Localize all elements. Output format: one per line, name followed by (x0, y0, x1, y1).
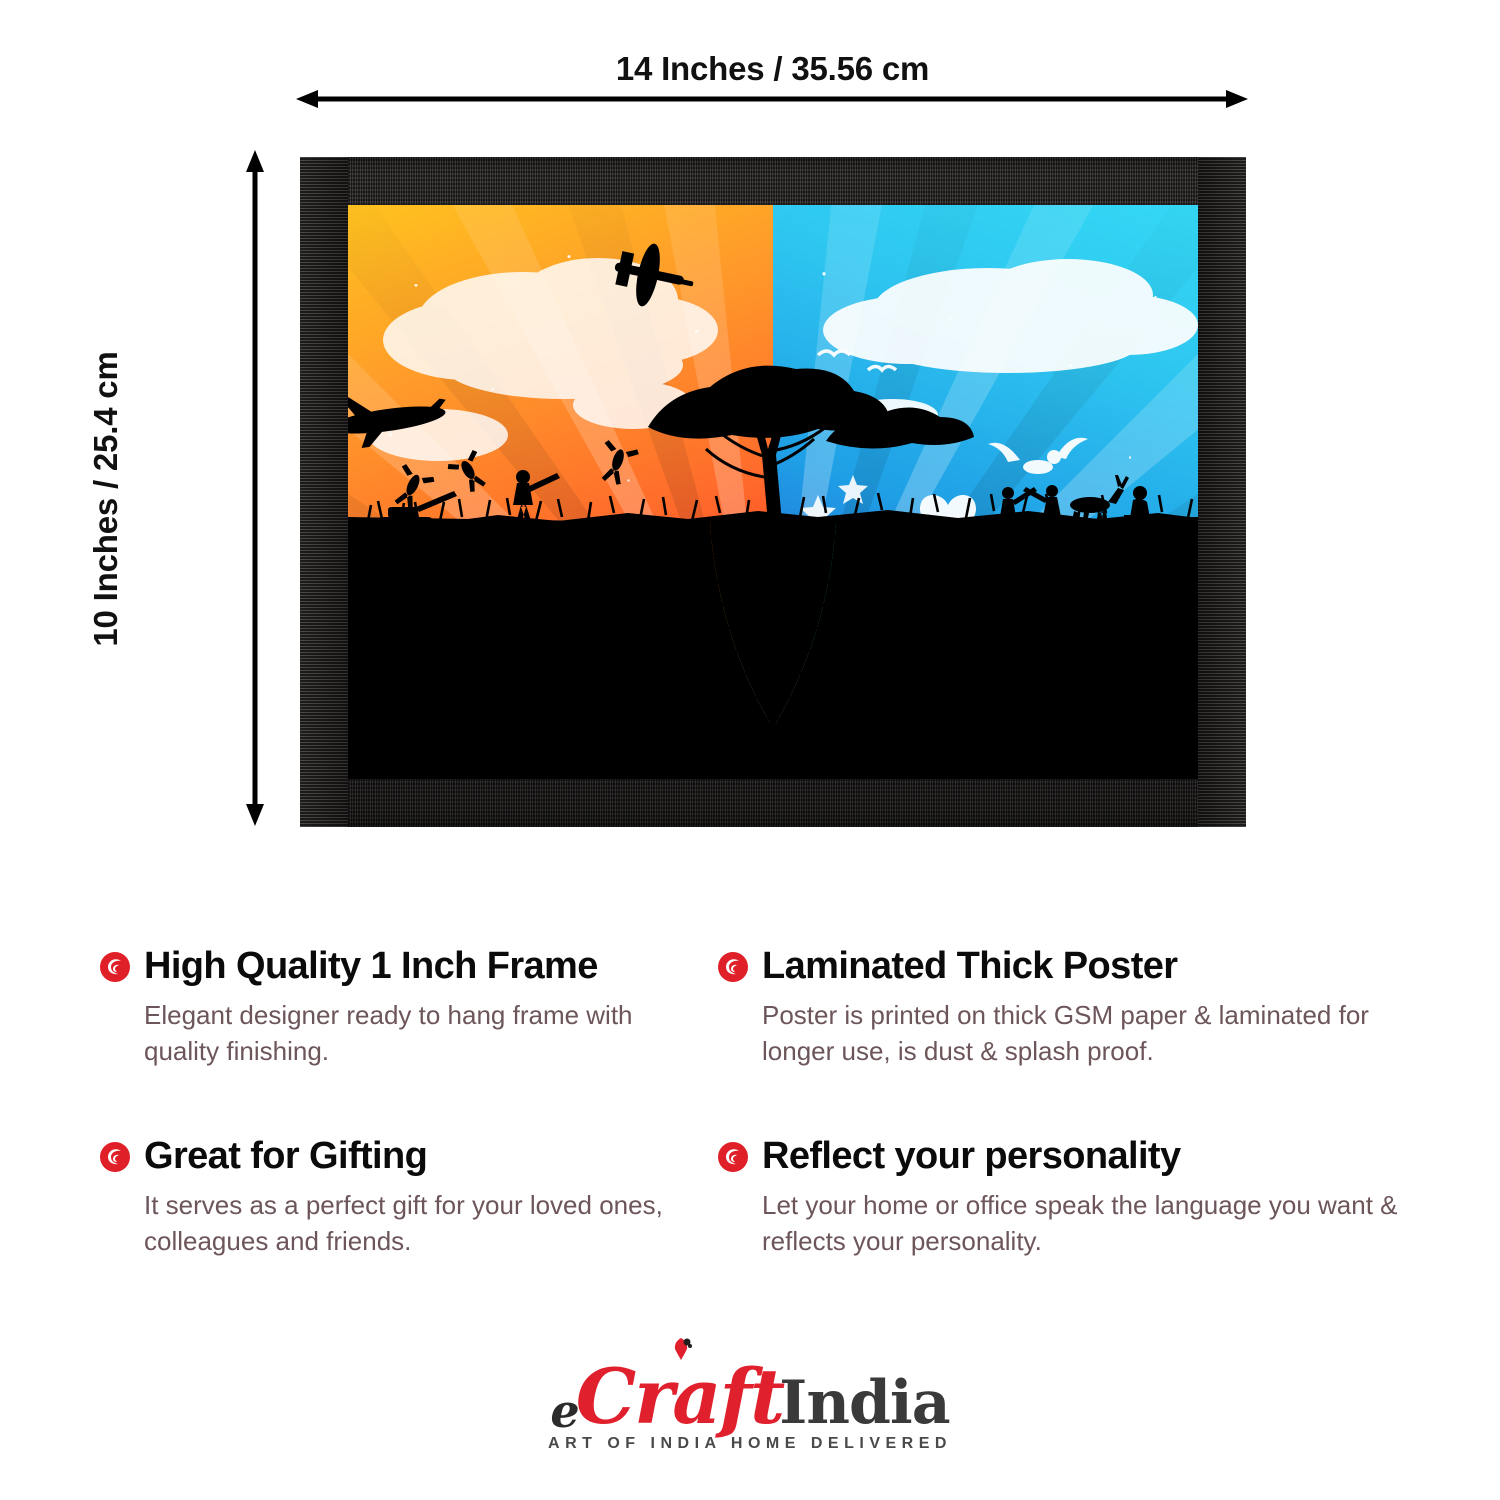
v-valley-rainbow (348, 205, 1198, 779)
ecraftindia-bullet-icon (100, 952, 130, 982)
logo-craft-text: Craft (576, 1352, 784, 1441)
feature-description: It serves as a perfect gift for your lov… (144, 1188, 700, 1260)
poster-artwork (348, 205, 1198, 779)
feature-item: Laminated Thick Poster Poster is printed… (718, 945, 1408, 1070)
logo-india-text: India (779, 1368, 949, 1438)
height-dimension-label: 10 Inches / 25.4 cm (87, 289, 125, 709)
feature-heading: Reflect your personality (718, 1135, 1408, 1178)
feature-title: Great for Gifting (144, 1135, 427, 1178)
logo-wordmark: e Craft India (550, 1352, 949, 1441)
feature-item: Great for Gifting It serves as a perfect… (100, 1135, 700, 1260)
height-dimension-arrow (246, 150, 264, 826)
feature-heading: Laminated Thick Poster (718, 945, 1408, 988)
framed-artwork (300, 157, 1246, 827)
ecraftindia-logo: e Craft India ART OF INDIA HOME DELIVERE… (0, 1352, 1500, 1453)
feature-heading: Great for Gifting (100, 1135, 700, 1178)
feature-item: High Quality 1 Inch Frame Elegant design… (100, 945, 700, 1070)
feature-description: Let your home or office speak the langua… (762, 1188, 1408, 1260)
feature-title: Laminated Thick Poster (762, 945, 1177, 988)
ecraftindia-bullet-icon (718, 952, 748, 982)
feature-item: Reflect your personality Let your home o… (718, 1135, 1408, 1260)
logo-e-cart-icon: e (550, 1384, 579, 1438)
artwork-sky (348, 205, 1198, 779)
logo-ornament-icon (668, 1336, 694, 1362)
feature-description: Poster is printed on thick GSM paper & l… (762, 998, 1408, 1070)
feature-heading: High Quality 1 Inch Frame (100, 945, 700, 988)
ecraftindia-bullet-icon (100, 1142, 130, 1172)
feature-description: Elegant designer ready to hang frame wit… (144, 998, 700, 1070)
feature-title: High Quality 1 Inch Frame (144, 945, 598, 988)
feature-list: High Quality 1 Inch Frame Elegant design… (0, 935, 1500, 1335)
ecraftindia-bullet-icon (718, 1142, 748, 1172)
width-dimension-arrow (296, 90, 1248, 108)
width-dimension-label: 14 Inches / 35.56 cm (300, 50, 1245, 88)
feature-title: Reflect your personality (762, 1135, 1181, 1178)
